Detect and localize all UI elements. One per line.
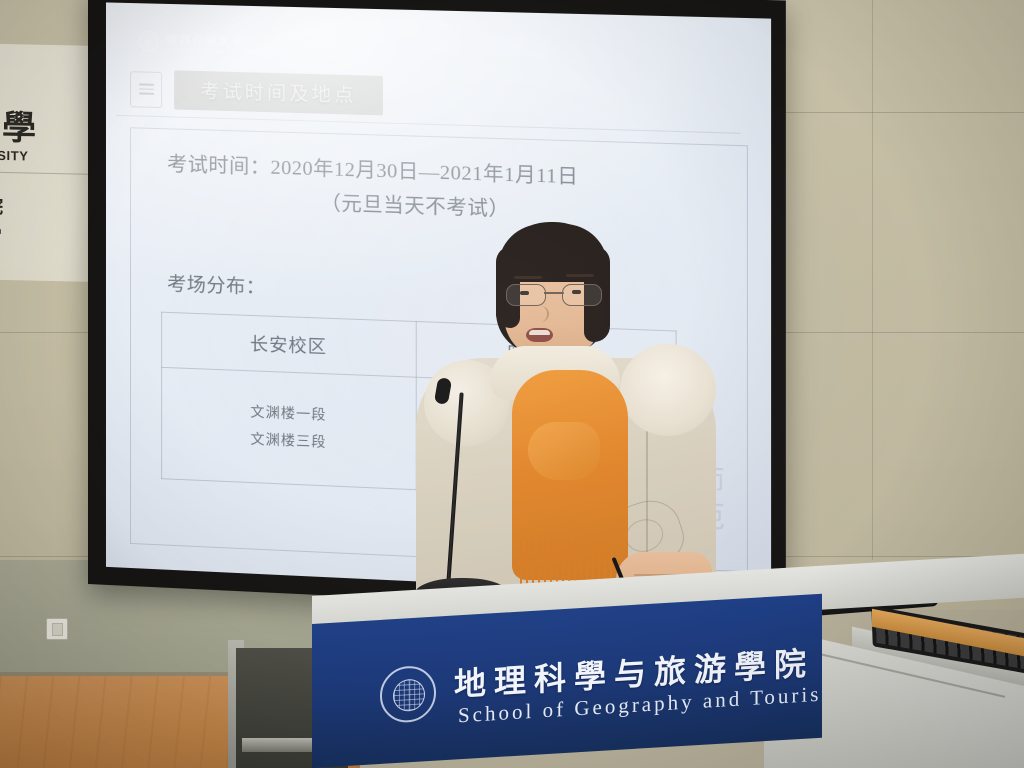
wall-sign-cn-line1: 範大學 — [0, 98, 40, 149]
presenter-eyebrow-right — [566, 274, 594, 277]
venue-line-1: 文渊楼一段 — [250, 405, 326, 423]
presenter-mouth — [526, 328, 553, 342]
wall-sign-cn-line2: 旅游學院 — [0, 190, 6, 219]
slide-title-bar: 考试时间及地点 — [130, 69, 383, 115]
jacket-fur-right — [620, 344, 716, 436]
document-lines-icon — [130, 71, 162, 108]
table-header-cell: 长安校区 — [162, 312, 417, 377]
wall-sign-en-line2: phy and Tourism — [0, 224, 2, 237]
podium-front-banner: 地理科學与旅游學院 School of Geography and Touris… — [312, 594, 822, 768]
wall-sign-divider — [0, 170, 94, 175]
venue-line-2: 文渊楼三段 — [250, 433, 326, 451]
wall-tile-seam — [872, 0, 873, 560]
wall-sign-en-line1: AL UNIVERSITY — [0, 146, 29, 163]
globe-emblem-icon — [380, 665, 436, 724]
page-title: 考试时间及地点 — [200, 81, 356, 106]
wall-sign: 範大學 AL UNIVERSITY 旅游學院 phy and Tourism — [0, 42, 95, 282]
presenter-eyebrow-left — [514, 276, 542, 279]
eyeglasses-icon — [506, 284, 602, 304]
table-cell-venues-left: 文渊楼一段 文渊楼三段 — [162, 367, 417, 489]
slide-title-plate: 考试时间及地点 — [174, 70, 383, 115]
glasses-lens-right — [562, 284, 602, 306]
slide-logo-subtext: SHAANXI NORMAL UNIVERSITY — [166, 48, 268, 56]
glasses-lens-left — [506, 284, 546, 306]
light-switch[interactable] — [46, 618, 68, 640]
lecture-hall-photo: 範大學 AL UNIVERSITY 旅游學院 phy and Tourism ▣… — [0, 0, 1024, 768]
podium: 地理科學与旅游學院 School of Geography and Touris… — [312, 596, 1024, 768]
slide-logo-text: 陕西师范大学 — [166, 34, 245, 48]
scarf-knot — [528, 422, 600, 480]
seal-icon: ▣ — [138, 30, 159, 52]
glasses-bridge — [544, 292, 564, 294]
slide-university-logo: ▣ 陕西师范大学 SHAANXI NORMAL UNIVERSITY — [138, 29, 268, 55]
